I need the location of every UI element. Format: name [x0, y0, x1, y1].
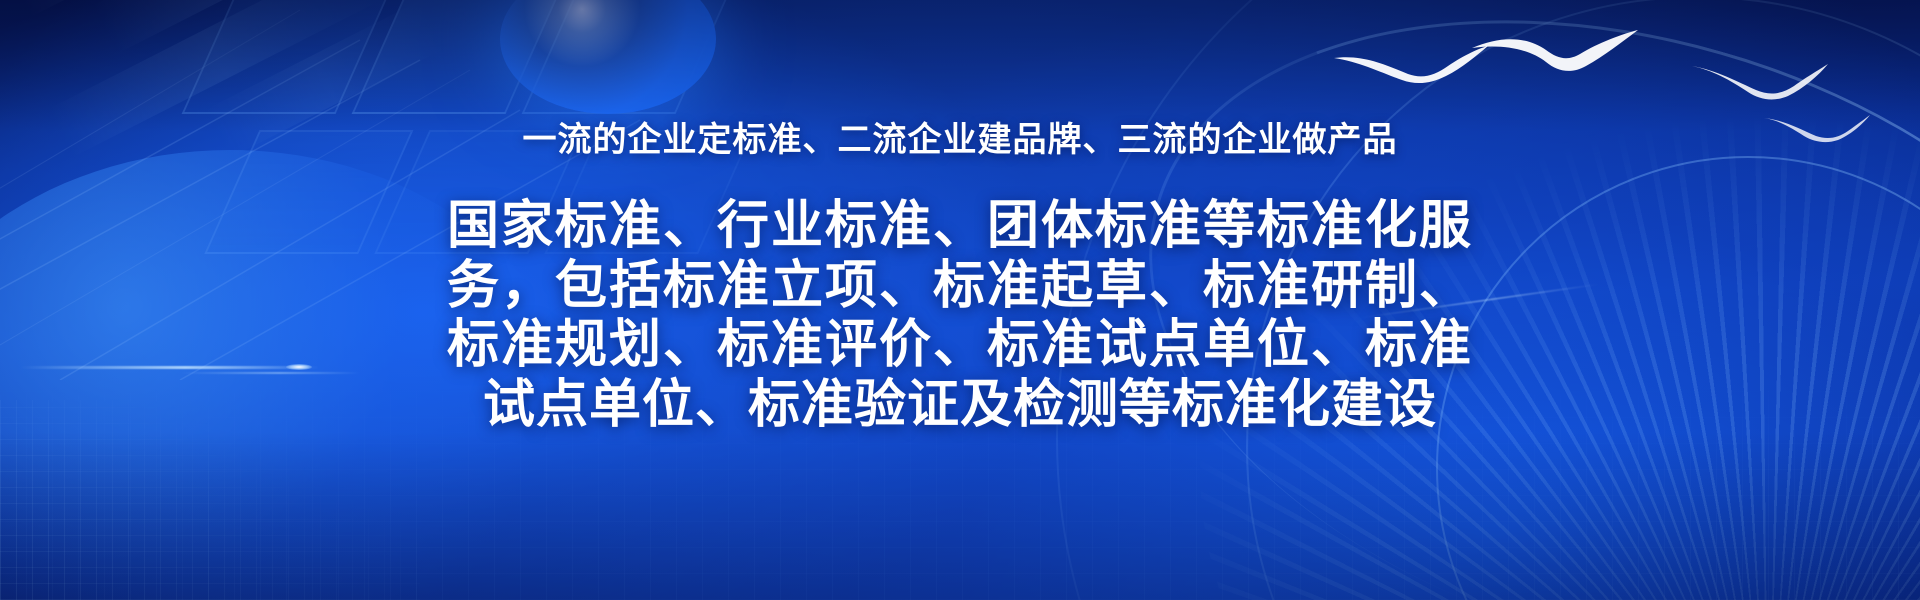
- headline-line-4: 试点单位、标准验证及检测等标准化建设: [445, 376, 1475, 436]
- banner-content: 一流的企业定标准、二流企业建品牌、三流的企业做产品 国家标准、行业标准、团体标准…: [0, 0, 1920, 600]
- headline-line-1: 国家标准、行业标准、团体标准等标准化服: [445, 197, 1475, 257]
- banner-tagline: 一流的企业定标准、二流企业建品牌、三流的企业做产品: [523, 120, 1398, 161]
- headline-line-3: 标准规划、标准评价、标准试点单位、标准: [445, 316, 1475, 376]
- promo-banner: 一流的企业定标准、二流企业建品牌、三流的企业做产品 国家标准、行业标准、团体标准…: [0, 0, 1920, 600]
- banner-headline: 国家标准、行业标准、团体标准等标准化服 务，包括标准立项、标准起草、标准研制、 …: [445, 197, 1475, 436]
- headline-line-2: 务，包括标准立项、标准起草、标准研制、: [445, 257, 1475, 317]
